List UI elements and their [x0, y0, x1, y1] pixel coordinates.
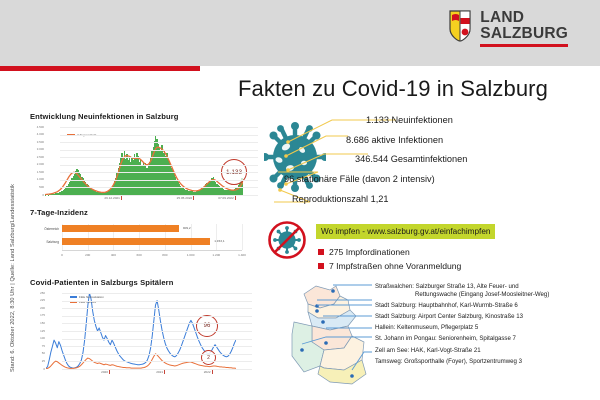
page-title: Fakten zu Covid-19 in Salzburg	[238, 76, 548, 102]
chart-neuinfektionen-ytick: 2.500	[30, 156, 44, 159]
logo-underline	[480, 44, 568, 47]
chart-spitaeler-title: Covid-Patienten in Salzburgs Spitälern	[30, 278, 255, 287]
gridline	[60, 142, 258, 143]
land-salzburg-logo: LAND SALZBURG	[448, 10, 568, 47]
chart-spitaeler-annotation-normal: 96	[196, 315, 218, 337]
chart-spitaeler-xaxis: 202020212022	[46, 370, 236, 378]
location-item-line1: Straßwalchen: Salzburger Straße 13, Alte…	[375, 283, 519, 290]
chart-spitaeler-ytick: 75	[30, 345, 45, 348]
impfen-bullet-impfstrassen: 7 Impfstraßen ohne Voranmeldung	[318, 261, 461, 271]
locations-list: Straßwalchen: Salzburger Straße 13, Alte…	[375, 283, 600, 369]
chart-inzidenz-bar	[62, 238, 210, 245]
chart-inzidenz-xtick: 600	[137, 253, 142, 257]
chart-spitaeler-ytick: 175	[30, 314, 45, 317]
chart-neuinfektionen-average-line	[45, 127, 243, 195]
chart-neuinfektionen-ytick: 1.000	[30, 178, 44, 181]
chart-inzidenz-xtick: 1.400	[238, 253, 246, 257]
chart-inzidenz-row: Österreich909,2	[30, 224, 242, 233]
chart-spitaeler-ytick: 225	[30, 299, 45, 302]
gridline	[60, 187, 258, 188]
chart-neuinfektionen-ytick: 1.500	[30, 171, 44, 174]
chart-inzidenz-xtick: 400	[111, 253, 116, 257]
gridline	[62, 331, 252, 332]
gridline	[62, 308, 252, 309]
chart-inzidenz-plot: Österreich909,2Salzburg1.153,1 020040060…	[30, 224, 242, 266]
chart-spitaeler-ytick: 125	[30, 330, 45, 333]
gridline	[62, 293, 252, 294]
chart-spitaeler-ytick: 150	[30, 322, 45, 325]
location-item: Hallein: Keltenmuseum, Pflegerplatz 5	[375, 324, 600, 332]
chart-neuinfektionen-xtick: 07.09.2022	[218, 196, 233, 200]
gridline	[62, 339, 252, 340]
coronavirus-icon	[264, 114, 326, 200]
gridline	[62, 361, 252, 362]
source-note: Stand: 6. Oktober 2022, 8:30 Uhr | Quell…	[10, 114, 16, 372]
legend-swatch-normalstation	[70, 296, 77, 297]
gridline	[62, 346, 252, 347]
fact-stationaere-faelle: 96 stationäre Fälle (davon 2 intensiv)	[284, 175, 594, 184]
gridline	[62, 354, 252, 355]
location-item: Stadt Salzburg: Hauptbahnhof, Karl-Wurmb…	[375, 302, 600, 310]
logo-line-salzburg: SALZBURG	[480, 26, 568, 42]
location-item-line1: Stadt Salzburg: Hauptbahnhof, Karl-Wurmb…	[375, 302, 518, 309]
logo-line-land: LAND	[480, 10, 568, 26]
chart-neuinfektionen-ytick: 0	[30, 194, 44, 197]
chart-inzidenz-xtick: 0	[61, 253, 63, 257]
location-item-line1: Hallein: Keltenmuseum, Pflegerplatz 5	[375, 324, 478, 331]
impfen-bullet-text-2: 7 Impfstraßen ohne Voranmeldung	[329, 261, 461, 271]
chart-spitaeler-plot: 0255075100125150175200225250 Fälle Norma…	[46, 293, 236, 369]
chart-inzidenz: 7-Tage-Inzidenz Österreich909,2Salzburg1…	[30, 208, 250, 266]
location-item: Straßwalchen: Salzburger Straße 13, Alte…	[375, 283, 600, 298]
fact-reproduktionszahl: Reproduktionszahl 1,21	[292, 195, 594, 204]
chart-neuinfektionen-xtick: 25.05.2022	[177, 196, 192, 200]
gridline	[62, 301, 252, 302]
chart-neuinfektionen-ytick: 500	[30, 186, 44, 189]
gridline	[60, 180, 258, 181]
chart-inzidenz-xaxis: 02004006008001.0001.2001.400	[62, 250, 242, 258]
chart-inzidenz-row: Salzburg1.153,1	[30, 237, 242, 246]
chart-neuinfektionen-ytick: 2.000	[30, 163, 44, 166]
chart-inzidenz-category-label: Salzburg	[30, 240, 62, 244]
chart-inzidenz-track: 1.153,1	[62, 238, 242, 245]
gridline	[60, 172, 258, 173]
chart-inzidenz-xtick: 1.000	[187, 253, 195, 257]
gridline	[60, 165, 258, 166]
location-item: Tamsweg: Großsporthalle (Foyer), Sportze…	[375, 358, 600, 366]
gridline	[60, 195, 258, 196]
chart-spitaeler-annotation-intensiv: 2	[201, 350, 216, 365]
gridline	[60, 127, 258, 128]
bullet-square-icon	[318, 249, 324, 255]
chart-neuinfektionen-xtick: 29.12.2021	[104, 196, 119, 200]
chart-neuinfektionen-ytick: 3.000	[30, 148, 44, 151]
legend-label-normalstation: Fälle Normalstation	[79, 295, 104, 299]
gridline	[60, 135, 258, 136]
gridline	[62, 316, 252, 317]
chart-spitaeler-ytick: 100	[30, 337, 45, 340]
fact-gesamtinfektionen: 346.544 Gesamtinfektionen	[330, 155, 594, 164]
chart-inzidenz-xtick: 200	[85, 253, 90, 257]
chart-spitaeler-xtick: 2020	[101, 370, 108, 374]
chart-inzidenz-bar	[62, 225, 179, 232]
chart-neuinfektionen-yaxis: 05001.0001.5002.0002.5003.0003.5004.0004…	[30, 127, 44, 195]
chart-spitaeler-xtick: 2021	[156, 370, 163, 374]
chart-spitaeler-xtick: 2022	[204, 370, 211, 374]
facts-list: 1.133 Neuinfektionen 8.686 aktive Infekt…	[330, 116, 594, 215]
chart-neuinfektionen-title: Entwicklung Neuinfektionen in Salzburg	[30, 112, 245, 121]
salzburg-coat-of-arms-icon	[448, 10, 472, 42]
location-item: Stadt Salzburg: Airport Center Salzburg,…	[375, 313, 600, 321]
chart-neuinfektionen-ytick: 3.500	[30, 141, 44, 144]
chart-inzidenz-value-label: 909,2	[183, 226, 191, 230]
chart-spitaeler-ytick: 250	[30, 292, 45, 295]
gridline	[60, 157, 258, 158]
chart-inzidenz-value-label: 1.153,1	[214, 239, 224, 243]
fact-neuinfektionen: 1.133 Neuinfektionen	[330, 116, 594, 125]
chart-inzidenz-track: 909,2	[62, 225, 242, 232]
location-item-line1: Stadt Salzburg: Airport Center Salzburg,…	[375, 313, 523, 320]
impfen-banner[interactable]: Wo impfen - www.salzburg.gv.at/einfachim…	[316, 224, 495, 239]
legend-entry-normalstation: Fälle Normalstation	[70, 295, 104, 299]
chart-neuinfektionen-xaxis: 29.12.202125.05.202207.09.2022	[45, 196, 243, 204]
chart-inzidenz-title: 7-Tage-Inzidenz	[30, 208, 250, 217]
chart-neuinfektionen-ytick: 4.500	[30, 126, 44, 129]
location-item-line1: St. Johann im Pongau: Seniorenheim, Spit…	[375, 335, 516, 342]
logo-text: LAND SALZBURG	[480, 10, 568, 47]
header-accent-bar	[0, 66, 200, 71]
location-item-line1: Tamsweg: Großsporthalle (Foyer), Sportze…	[375, 358, 522, 365]
location-item-line2: Rettungswache (Eingang Josef-Moosleitner…	[375, 291, 600, 299]
chart-spitaeler: Covid-Patienten in Salzburgs Spitälern 0…	[30, 278, 255, 369]
gridline	[242, 224, 243, 250]
fact-aktive-infektionen: 8.686 aktive Infektionen	[330, 136, 594, 145]
chart-spitaeler-ytick: 50	[30, 352, 45, 355]
location-item: Zell am See: HAK, Karl-Vogt-Straße 21	[375, 347, 600, 355]
chart-neuinfektionen-ytick: 4.000	[30, 133, 44, 136]
chart-spitaeler-yaxis: 0255075100125150175200225250	[30, 293, 45, 369]
no-virus-icon	[267, 220, 307, 260]
location-item-line1: Zell am See: HAK, Karl-Vogt-Straße 21	[375, 347, 481, 354]
impfen-banner-text: Wo impfen - www.salzburg.gv.at/einfachim…	[321, 227, 490, 236]
gridline	[62, 369, 252, 370]
chart-spitaeler-ytick: 0	[30, 368, 45, 371]
salzburg-districts-map-icon	[290, 278, 368, 390]
chart-neuinfektionen: Entwicklung Neuinfektionen in Salzburg 0…	[30, 112, 245, 195]
chart-spitaeler-ytick: 25	[30, 360, 45, 363]
impfen-bullet-ordinationen: 275 Impfordinationen	[318, 247, 461, 257]
chart-neuinfektionen-plot: 05001.0001.5002.0002.5003.0003.5004.0004…	[45, 127, 243, 195]
chart-spitaeler-ytick: 200	[30, 307, 45, 310]
location-item: St. Johann im Pongau: Seniorenheim, Spit…	[375, 335, 600, 343]
impfen-bullets: 275 Impfordinationen 7 Impfstraßen ohne …	[318, 247, 461, 275]
chart-inzidenz-xtick: 800	[162, 253, 167, 257]
gridline	[60, 150, 258, 151]
gridline	[62, 323, 252, 324]
chart-inzidenz-category-label: Österreich	[30, 227, 62, 231]
impfen-bullet-text-1: 275 Impfordinationen	[329, 247, 410, 257]
bullet-square-icon	[318, 263, 324, 269]
chart-inzidenz-xtick: 1.200	[212, 253, 220, 257]
